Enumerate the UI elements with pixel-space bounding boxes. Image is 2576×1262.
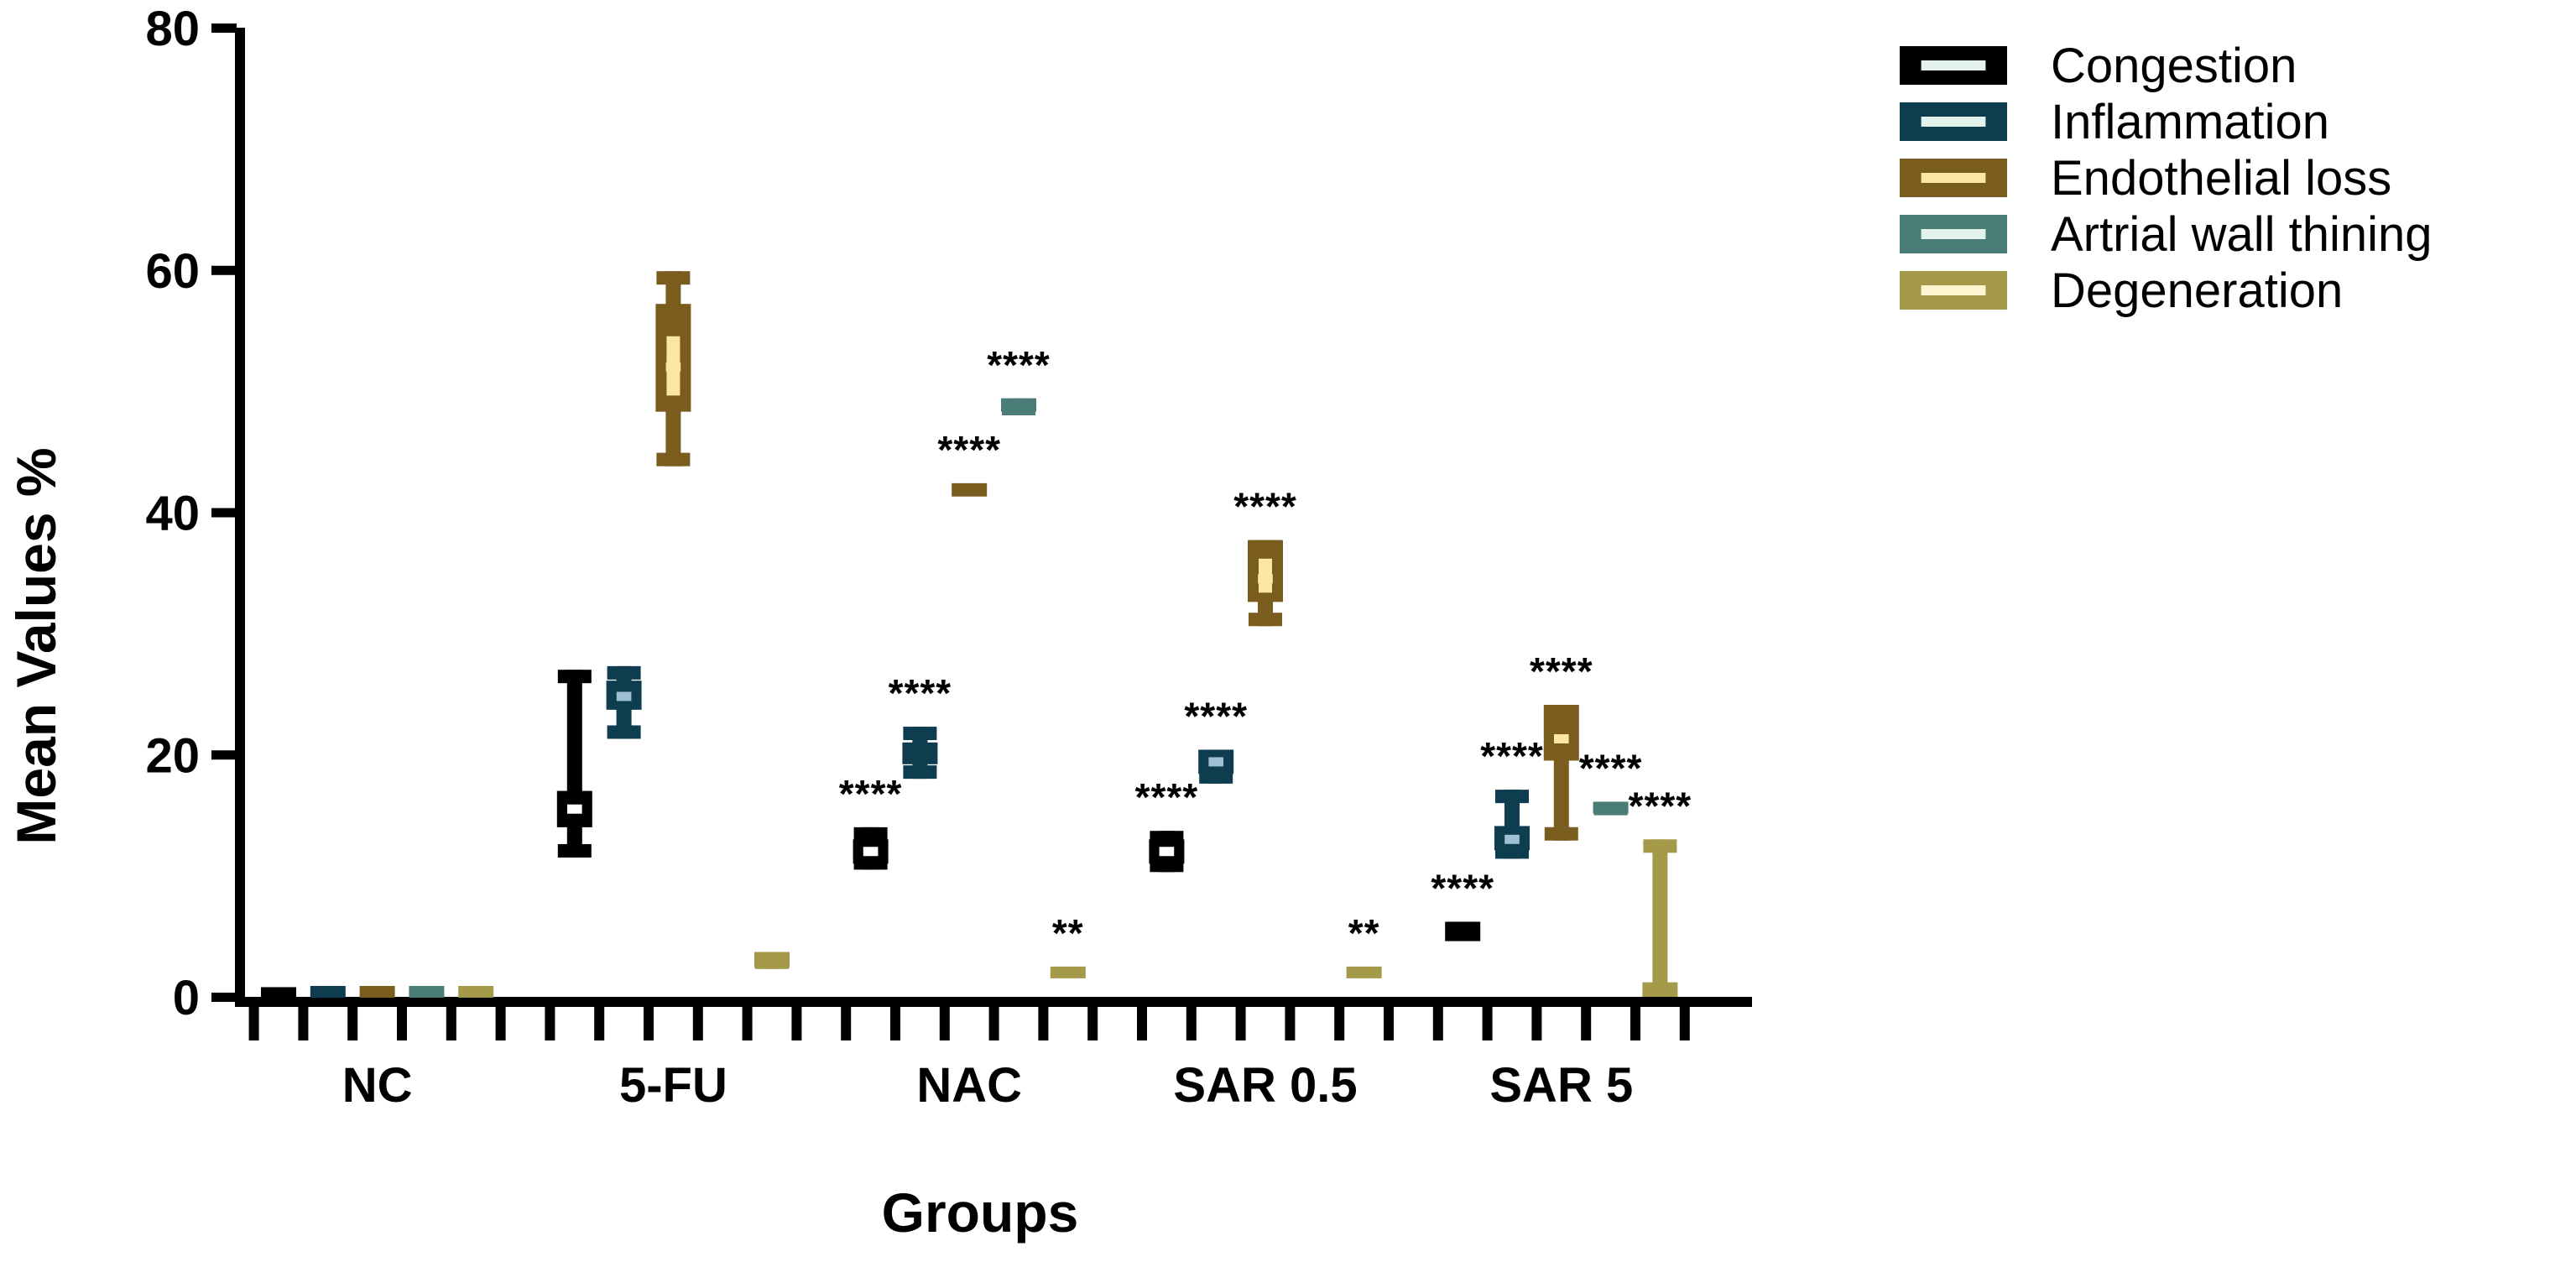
x-axis-tick (1531, 1007, 1541, 1040)
whisker-cap-lower (1545, 827, 1578, 841)
x-axis-tick (1334, 1007, 1344, 1040)
significance-marker: **** (1480, 734, 1544, 778)
significance-marker: ** (1348, 911, 1380, 955)
legend-item-label: Endothelial loss (2051, 151, 2391, 206)
y-axis-tick-label: 80 (145, 2, 200, 56)
significance-marker: **** (889, 671, 952, 715)
whisker-cap-upper (607, 666, 641, 680)
boxplot-group (853, 827, 889, 870)
whisker-cap-upper (854, 827, 888, 841)
box-iqr (1593, 802, 1629, 814)
box-iqr (952, 483, 987, 497)
boxplot-group (1051, 967, 1086, 978)
boxplot-group (409, 986, 444, 998)
boxplot-group (607, 666, 642, 739)
box-iqr (458, 986, 493, 998)
boxplot-group (1001, 399, 1036, 415)
legend-swatch-median-line (1922, 229, 1986, 239)
x-axis-tick (1236, 1007, 1246, 1040)
boxplot-group (310, 986, 346, 998)
legend-item-label: Congestion (2051, 39, 2297, 93)
x-axis-tick (496, 1007, 506, 1040)
significance-marker: **** (1530, 649, 1593, 693)
whisker-cap-lower (607, 725, 641, 738)
significance-marker: **** (937, 428, 1001, 472)
box-iqr (1001, 399, 1036, 412)
whisker-cap-upper (1495, 790, 1529, 803)
x-axis-tick (791, 1007, 801, 1040)
x-group-label: SAR 5 (1489, 1058, 1633, 1113)
box-iqr (360, 986, 395, 998)
significance-marker: ** (1052, 911, 1084, 955)
boxplot-group (952, 483, 987, 497)
significance-marker: **** (987, 343, 1051, 387)
median-line (1160, 847, 1175, 856)
whisker-cap-upper (656, 271, 690, 284)
box-iqr (754, 952, 790, 968)
significance-marker: **** (1233, 485, 1297, 529)
legend-item-label: Inflammation (2051, 95, 2329, 149)
legend-swatch-median-line (1922, 173, 1986, 183)
whisker-line (567, 670, 582, 858)
x-axis-tick (1680, 1007, 1690, 1040)
x-axis-tick (1038, 1007, 1048, 1040)
x-axis-tick (644, 1007, 654, 1040)
boxplot-group (902, 727, 937, 779)
significance-marker: **** (1135, 775, 1199, 819)
box-iqr (1544, 705, 1579, 760)
legend-swatch-median-line (1922, 60, 1986, 70)
box-iqr (261, 987, 296, 999)
x-axis-tick (1483, 1007, 1493, 1040)
x-axis-tick (1581, 1007, 1591, 1040)
median-line (1554, 734, 1569, 743)
significance-marker: **** (1431, 866, 1494, 910)
y-axis-tick (211, 750, 237, 759)
whisker-cap-lower (656, 453, 690, 467)
whisker-cap-lower (558, 844, 592, 858)
whisker-cap-upper (558, 670, 592, 683)
boxplot-group (1593, 801, 1629, 815)
x-axis-line (235, 997, 1752, 1007)
y-axis-tick (211, 508, 237, 518)
x-group-label: NAC (916, 1058, 1022, 1113)
y-axis-tick (211, 266, 237, 275)
y-axis-tick (211, 993, 237, 1002)
median-line (1504, 835, 1520, 844)
chart-figure: 020406080Mean Values %Groups ***********… (0, 0, 2576, 1262)
boxplot-group (1198, 749, 1233, 783)
whisker-cap-lower (903, 765, 936, 779)
x-group-label: 5-FU (619, 1058, 727, 1113)
y-axis-title: Mean Values % (5, 447, 67, 844)
significance-marker: **** (1629, 784, 1692, 827)
box-iqr (409, 986, 444, 998)
x-axis-tick (841, 1007, 851, 1040)
legend-item-label: Degeneration (2051, 263, 2343, 318)
boxplot-group (1347, 967, 1382, 978)
x-axis-tick (1186, 1007, 1197, 1040)
x-axis-tick (1384, 1007, 1394, 1040)
x-axis-tick (1433, 1007, 1443, 1040)
x-group-label: NC (342, 1058, 413, 1113)
box-iqr (1642, 983, 1677, 997)
box-iqr (1445, 921, 1480, 941)
box-iqr (902, 743, 937, 764)
median-line (617, 691, 632, 701)
x-axis-tick (1087, 1007, 1098, 1040)
y-axis-tick (211, 23, 237, 33)
median-line (567, 805, 582, 814)
y-axis-tick-label: 40 (145, 487, 200, 541)
boxplot-group (1149, 831, 1184, 872)
whisker-cap-lower (1249, 613, 1282, 626)
box-iqr (1347, 967, 1382, 978)
x-axis-tick (989, 1007, 999, 1040)
boxplot-group (360, 986, 395, 998)
x-axis-tick (890, 1007, 900, 1040)
box-iqr (310, 986, 346, 998)
boxplot-group (1445, 921, 1480, 941)
x-axis-tick (1285, 1007, 1295, 1040)
median-line (863, 847, 879, 856)
x-axis-tick (693, 1007, 703, 1040)
x-group-label: SAR 0.5 (1173, 1058, 1357, 1113)
x-axis-tick (1630, 1007, 1640, 1040)
x-axis-tick (298, 1007, 308, 1040)
x-axis-tick (397, 1007, 407, 1040)
x-axis-tick (347, 1007, 357, 1040)
significance-marker: **** (839, 772, 903, 816)
whisker-line (1652, 839, 1667, 997)
boxplot-svg: 020406080Mean Values %Groups ***********… (0, 0, 2576, 1262)
whisker-cap-upper (1643, 839, 1676, 853)
y-axis-tick-label: 20 (145, 728, 200, 783)
significance-marker: **** (1184, 694, 1248, 738)
median-line (1208, 757, 1223, 766)
x-axis-tick (1137, 1007, 1147, 1040)
boxplot-group (261, 987, 296, 999)
boxplot-group (458, 986, 493, 998)
legend-item-label: Artrial wall thining (2051, 207, 2433, 262)
legend-swatch-median-line (1922, 117, 1986, 127)
y-axis-tick-label: 60 (145, 244, 200, 299)
box-iqr (1051, 967, 1086, 978)
x-axis-tick (743, 1007, 753, 1040)
whisker-cap-upper (903, 727, 936, 740)
x-axis-tick (545, 1007, 555, 1040)
x-axis-title: Groups (882, 1181, 1079, 1244)
box-inner-band (666, 336, 680, 396)
box-inner-band (1259, 559, 1272, 592)
y-axis-tick-label: 0 (173, 971, 200, 1025)
x-axis-tick (446, 1007, 456, 1040)
x-axis-tick (249, 1007, 259, 1040)
x-axis-tick (940, 1007, 950, 1040)
legend-swatch-median-line (1922, 285, 1986, 295)
boxplot-group (754, 952, 790, 969)
x-axis-tick (594, 1007, 604, 1040)
